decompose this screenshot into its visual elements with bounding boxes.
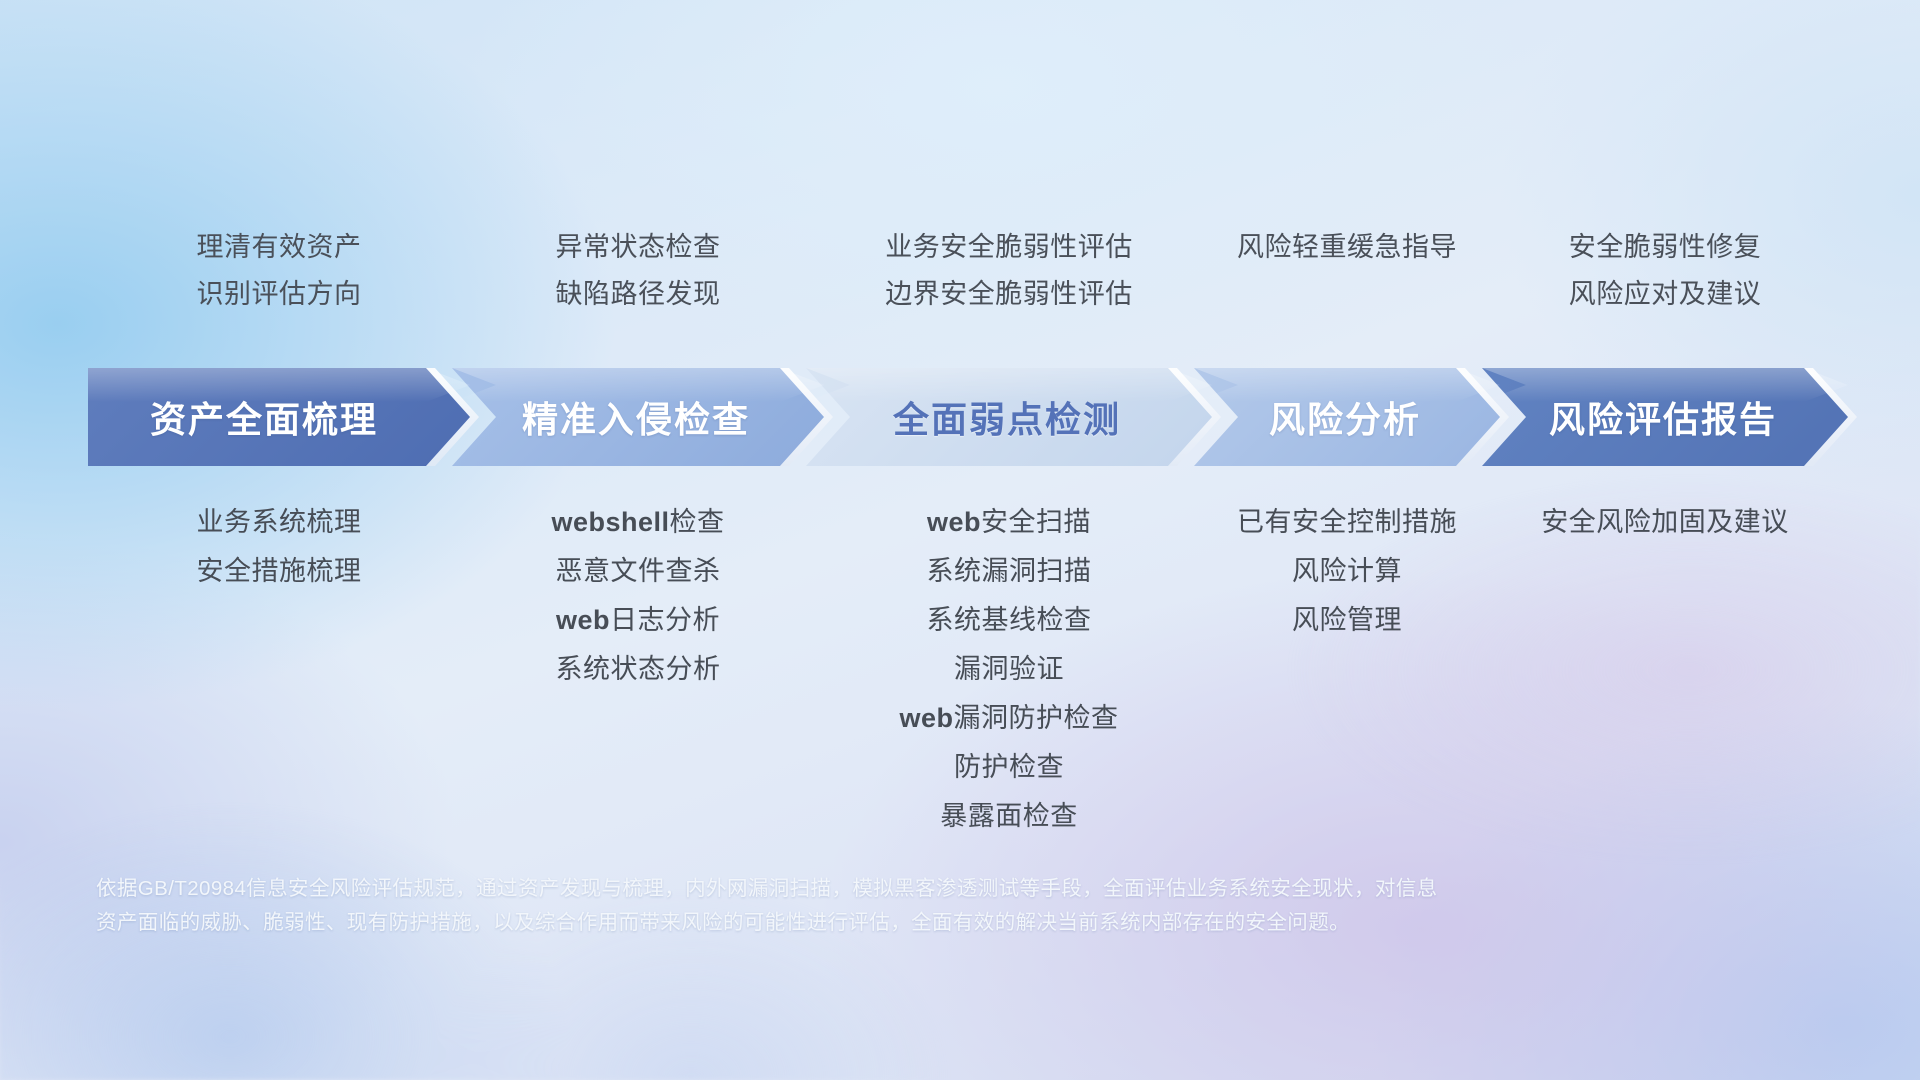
top-labels-stage-5: 安全脆弱性修复风险应对及建议 <box>1482 228 1848 314</box>
bottom-list-stage-4: 已有安全控制措施风险计算风险管理 <box>1194 498 1500 645</box>
bottom-list-item: 风险计算 <box>1292 547 1402 596</box>
bottom-list-item-text: 恶意文件查杀 <box>556 556 721 586</box>
bottom-list-item-text: 系统基线检查 <box>927 605 1092 635</box>
chevron-label-stage-2: 精准入侵检查 <box>452 391 824 443</box>
bottom-list-item: 安全风险加固及建议 <box>1541 498 1789 547</box>
diagram-stage: 理清有效资产识别评估方向异常状态检查缺陷路径发现业务安全脆弱性评估边界安全脆弱性… <box>0 0 1920 1080</box>
bottom-list-item-text: 漏洞防护检查 <box>954 703 1119 733</box>
top-label-item: 缺陷路径发现 <box>556 275 721 314</box>
bottom-list-item: web安全扫描 <box>927 498 1091 547</box>
footer-line-2: 资产面临的威胁、脆弱性、现有防护措施，以及综合作用而带来风险的可能性进行评估，全… <box>96 906 1716 940</box>
bottom-list-item: 风险管理 <box>1292 596 1402 645</box>
chevron-process-bar: 资产全面梳理精准入侵检查全面弱点检测风险分析风险评估报告 <box>88 368 1848 466</box>
bottom-list-item-text: 风险计算 <box>1292 556 1402 586</box>
bottom-list-item-prefix: web <box>927 507 981 537</box>
bottom-list-item: 系统漏洞扫描 <box>927 547 1092 596</box>
bottom-list-item-text: 风险管理 <box>1292 605 1402 635</box>
bottom-list-item-text: 漏洞验证 <box>954 654 1064 684</box>
bottom-list-item: web漏洞防护检查 <box>899 694 1118 743</box>
bottom-list-item: 漏洞验证 <box>954 645 1064 694</box>
bottom-list-item-text: 已有安全控制措施 <box>1237 507 1457 537</box>
top-labels-stage-4: 风险轻重缓急指导 <box>1194 228 1500 267</box>
bottom-list-item: 业务系统梳理 <box>197 498 362 547</box>
top-label-item: 业务安全脆弱性评估 <box>885 228 1133 267</box>
bottom-list-item-text: 防护检查 <box>954 752 1064 782</box>
chevron-stage-3[interactable]: 全面弱点检测 <box>806 368 1212 466</box>
bottom-list-item: 安全措施梳理 <box>197 547 362 596</box>
bottom-list-item-prefix: web <box>899 703 953 733</box>
bottom-list-item: 恶意文件查杀 <box>556 547 721 596</box>
bottom-list-item: webshell检查 <box>551 498 724 547</box>
footer-description: 依据GB/T20984信息安全风险评估规范，通过资产发现与梳理，内外网漏洞扫描，… <box>96 872 1716 940</box>
bottom-list-item: 系统状态分析 <box>556 645 721 694</box>
bottom-list-item-text: 安全风险加固及建议 <box>1541 507 1789 537</box>
bottom-list-stage-1: 业务系统梳理安全措施梳理 <box>88 498 470 596</box>
bottom-list-item: web日志分析 <box>556 596 720 645</box>
bottom-list-item-prefix: webshell <box>551 507 669 537</box>
chevron-label-stage-1: 资产全面梳理 <box>88 391 470 443</box>
top-label-item: 安全脆弱性修复 <box>1569 228 1762 267</box>
chevron-label-stage-5: 风险评估报告 <box>1482 391 1848 443</box>
top-label-item: 识别评估方向 <box>197 275 362 314</box>
bottom-list-stage-3: web安全扫描系统漏洞扫描系统基线检查漏洞验证web漏洞防护检查防护检查暴露面检… <box>806 498 1212 841</box>
footer-line-1: 依据GB/T20984信息安全风险评估规范，通过资产发现与梳理，内外网漏洞扫描，… <box>96 872 1716 906</box>
top-labels-stage-2: 异常状态检查缺陷路径发现 <box>452 228 824 314</box>
bottom-list-item-text: 系统状态分析 <box>556 654 721 684</box>
bottom-list-stage-2: webshell检查恶意文件查杀web日志分析系统状态分析 <box>452 498 824 694</box>
top-label-item: 理清有效资产 <box>197 228 362 267</box>
bottom-list-item-text: 系统漏洞扫描 <box>927 556 1092 586</box>
bottom-list-stage-5: 安全风险加固及建议 <box>1482 498 1848 547</box>
top-label-row: 理清有效资产识别评估方向异常状态检查缺陷路径发现业务安全脆弱性评估边界安全脆弱性… <box>0 228 1920 338</box>
top-label-item: 风险应对及建议 <box>1569 275 1762 314</box>
chevron-stage-2[interactable]: 精准入侵检查 <box>452 368 824 466</box>
bottom-list-item-text: 安全扫描 <box>981 507 1091 537</box>
top-labels-stage-1: 理清有效资产识别评估方向 <box>88 228 470 314</box>
bottom-list-item-text: 检查 <box>670 507 725 537</box>
bottom-list-item-text: 安全措施梳理 <box>197 556 362 586</box>
chevron-label-stage-4: 风险分析 <box>1194 391 1500 443</box>
top-labels-stage-3: 业务安全脆弱性评估边界安全脆弱性评估 <box>806 228 1212 314</box>
bottom-list-item-prefix: web <box>556 605 610 635</box>
bottom-list-item: 已有安全控制措施 <box>1237 498 1457 547</box>
chevron-stage-4[interactable]: 风险分析 <box>1194 368 1500 466</box>
chevron-label-stage-3: 全面弱点检测 <box>806 391 1212 443</box>
bottom-list-item-text: 暴露面检查 <box>940 801 1078 831</box>
top-label-item: 边界安全脆弱性评估 <box>885 275 1133 314</box>
top-label-item: 风险轻重缓急指导 <box>1237 228 1457 267</box>
chevron-stage-1[interactable]: 资产全面梳理 <box>88 368 470 466</box>
bottom-list-item-text: 业务系统梳理 <box>197 507 362 537</box>
bottom-list-item: 暴露面检查 <box>940 792 1078 841</box>
chevron-stage-5[interactable]: 风险评估报告 <box>1482 368 1848 466</box>
bottom-list-item: 系统基线检查 <box>927 596 1092 645</box>
top-label-item: 异常状态检查 <box>556 228 721 267</box>
bottom-list-item: 防护检查 <box>954 743 1064 792</box>
bottom-list-item-text: 日志分析 <box>610 605 720 635</box>
